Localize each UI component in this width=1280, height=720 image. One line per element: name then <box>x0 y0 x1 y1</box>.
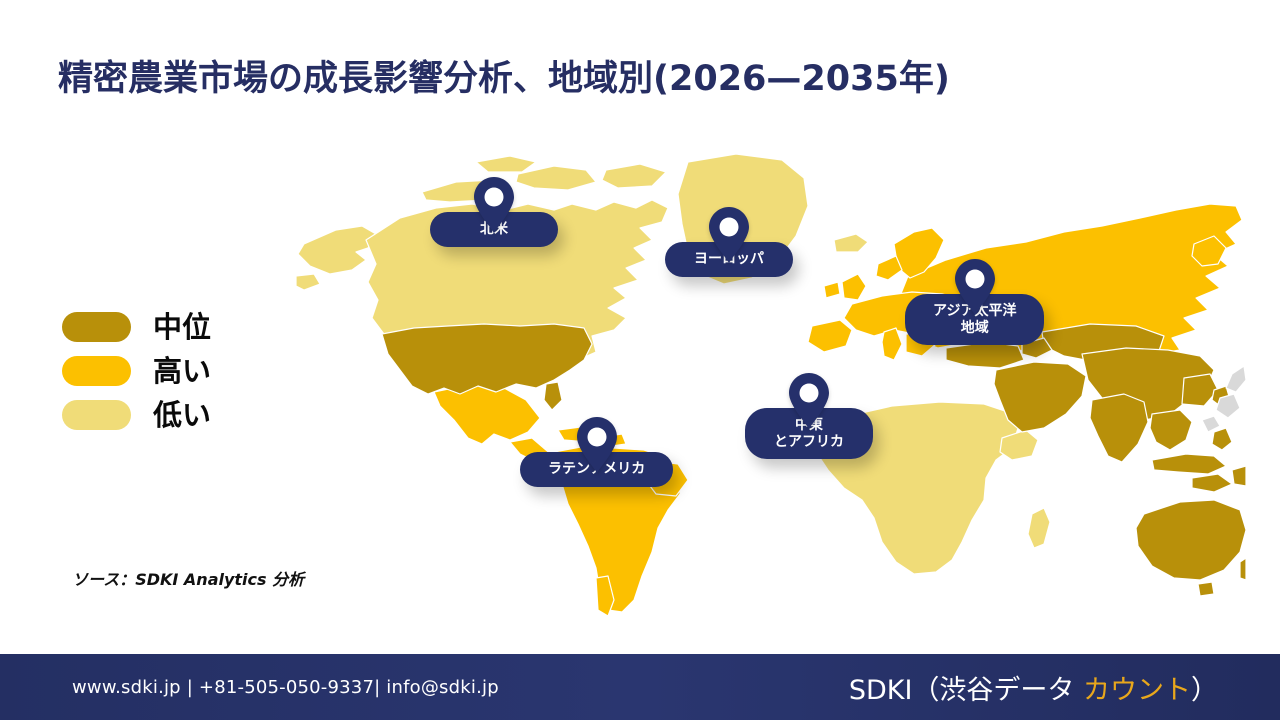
source-note: ソース：SDKI Analytics 分析 <box>72 566 304 590</box>
legend-label-medium: 中位 <box>153 313 211 342</box>
legend-item-medium: 中位 <box>62 312 211 342</box>
legend-label-low: 低い <box>153 401 211 430</box>
footer-bar: www.sdki.jp | +81-505-050-9337| info@sdk… <box>0 654 1280 720</box>
legend-swatch-medium <box>62 312 131 342</box>
legend-swatch-high <box>62 356 131 386</box>
location-pin-icon <box>575 416 619 474</box>
map-pin-middle-east-africa[interactable]: 中東 とアフリカ <box>745 372 873 459</box>
legend: 中位 高い 低い <box>62 312 211 430</box>
location-pin-icon <box>787 372 831 430</box>
location-pin-icon <box>953 258 997 316</box>
map-pin-asia-pacific[interactable]: アジア太平洋 地域 <box>905 258 1044 345</box>
footer-brand-main: SDKI（渋谷データ <box>849 675 1083 706</box>
legend-swatch-low <box>62 400 131 430</box>
footer-brand-accent: カウント <box>1083 675 1191 706</box>
map-pin-europe[interactable]: ヨーロッパ <box>665 206 793 277</box>
location-pin-icon <box>472 176 516 234</box>
map-pin-latin-america[interactable]: ラテンアメリカ <box>520 416 673 487</box>
map-region-medium <box>382 324 1246 596</box>
footer-contact[interactable]: www.sdki.jp | +81-505-050-9337| info@sdk… <box>72 677 499 698</box>
slide-canvas: 精密農業市場の成長影響分析、地域別(2026—2035年) 中位 高い 低い ソ… <box>0 0 1280 720</box>
footer-brand-tail: ） <box>1191 675 1218 706</box>
legend-label-high: 高い <box>153 357 211 386</box>
map-pin-north-america[interactable]: 北米 <box>430 176 558 247</box>
page-title: 精密農業市場の成長影響分析、地域別(2026—2035年) <box>58 50 950 101</box>
legend-item-high: 高い <box>62 356 211 386</box>
location-pin-icon <box>707 206 751 264</box>
world-map: 北米 ヨーロッパ アジア太平洋 地域 中東 とアフリカ <box>296 148 1246 618</box>
footer-brand: SDKI（渋谷データ カウント） <box>849 668 1218 707</box>
legend-item-low: 低い <box>62 400 211 430</box>
